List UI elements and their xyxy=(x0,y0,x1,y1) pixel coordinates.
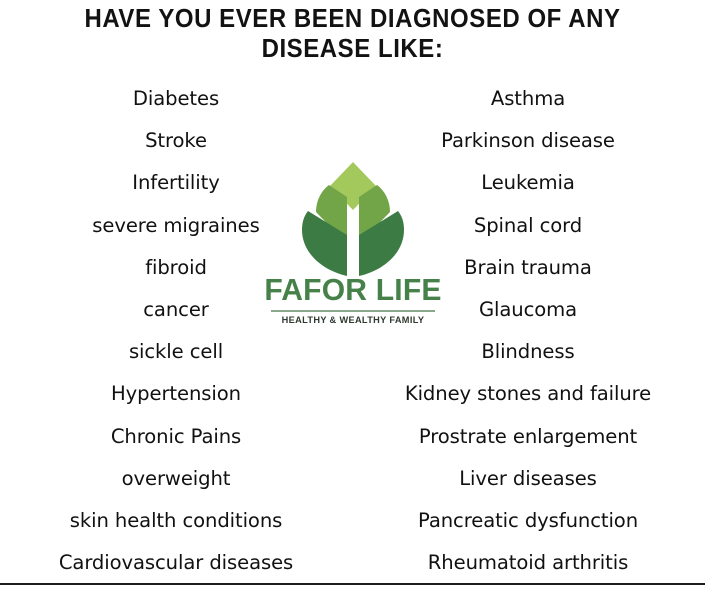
list-item: Stroke xyxy=(145,120,207,162)
list-item: overweight xyxy=(122,458,231,500)
list-item: Prostrate enlargement xyxy=(419,416,637,458)
list-item: Pancreatic dysfunction xyxy=(418,500,638,542)
list-item: cancer xyxy=(143,289,208,331)
list-item: Hypertension xyxy=(111,373,241,415)
brand-name: FAFOR LIFE xyxy=(258,273,448,307)
list-item: Infertility xyxy=(132,162,219,204)
list-item: Leukemia xyxy=(481,162,575,204)
list-item: skin health conditions xyxy=(70,500,283,542)
list-item: Rheumatoid arthritis xyxy=(428,542,628,584)
page-title: HAVE YOU EVER BEEN DIAGNOSED OF ANY DISE… xyxy=(21,4,684,64)
list-item: Glaucoma xyxy=(479,289,577,331)
list-item: sickle cell xyxy=(129,331,223,373)
list-item: Kidney stones and failure xyxy=(405,373,651,415)
disease-columns: Diabetes Stroke Infertility severe migra… xyxy=(0,78,705,584)
list-item: severe migraines xyxy=(92,205,259,247)
bottom-divider xyxy=(0,583,705,585)
disease-column-right: Asthma Parkinson disease Leukemia Spinal… xyxy=(352,78,704,584)
list-item: Brain trauma xyxy=(464,247,592,289)
brand-tagline: HEALTHY & WEALTHY FAMILY xyxy=(255,313,451,327)
list-item: Asthma xyxy=(491,78,565,120)
list-item: Chronic Pains xyxy=(111,416,241,458)
disease-column-left: Diabetes Stroke Infertility severe migra… xyxy=(0,78,352,584)
leaf-icon xyxy=(296,160,410,278)
list-item: Spinal cord xyxy=(474,205,582,247)
list-item: Diabetes xyxy=(133,78,219,120)
logo-divider xyxy=(271,310,435,312)
list-item: Liver diseases xyxy=(459,458,597,500)
brand-logo: FAFOR LIFE HEALTHY & WEALTHY FAMILY xyxy=(255,160,451,330)
poster-root: HAVE YOU EVER BEEN DIAGNOSED OF ANY DISE… xyxy=(0,0,705,594)
list-item: Blindness xyxy=(481,331,574,373)
list-item: Cardiovascular diseases xyxy=(59,542,293,584)
list-item: Parkinson disease xyxy=(441,120,615,162)
list-item: fibroid xyxy=(145,247,207,289)
